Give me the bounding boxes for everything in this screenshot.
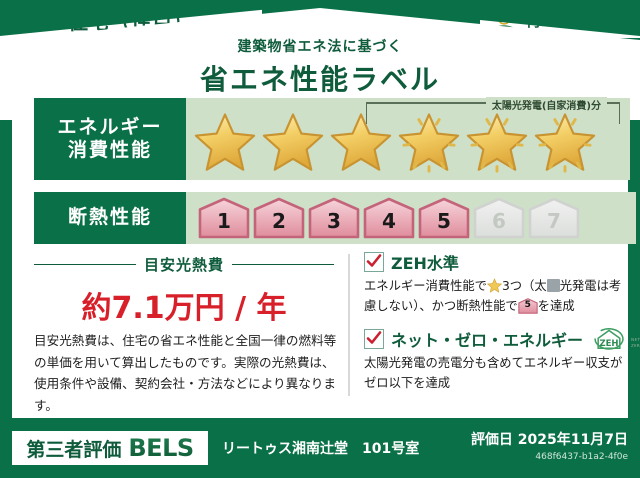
insulation-step-6: 6 — [473, 197, 525, 239]
bels-wordmark: BELS — [128, 434, 193, 462]
room-number: 101号室 — [362, 441, 419, 457]
insulation-step-number: 3 — [327, 209, 341, 239]
zeh-criteria-column: ZEH水準 エネルギー消費性能で3つ（太光発電は考慮しない）、かつ断熱性能で5を… — [364, 250, 632, 404]
insulation-grade-panel: 1234567 — [186, 192, 636, 244]
zeh-body-mid: 3つ（太 — [502, 279, 547, 293]
utility-cost-value: 約7.1万円 / 年 — [34, 283, 334, 327]
net-zero-energy-item: ネット・ゼロ・エネルギー ZEH ɴᴇᴛ ᴢᴇʀᴏ 太陽光発電の売電分も含めてエ… — [364, 327, 632, 394]
solar-bracket-caption: 太陽光発電(自家消費)分 — [486, 97, 607, 112]
insulation-step-1: 1 — [198, 197, 250, 239]
insulation-step-2: 2 — [253, 197, 305, 239]
star-icon — [192, 110, 258, 174]
zeh-standard-header: ZEH水準 — [364, 250, 632, 274]
evaluation-date: 評価日 2025年11月7日 — [471, 429, 628, 449]
utility-cost-block: 目安光熱費 約7.1万円 / 年 — [34, 254, 334, 327]
insulation-step-number: 6 — [492, 209, 506, 239]
page-title: 省エネ性能ラベル — [0, 58, 640, 98]
bels-third-party-label: 第三者評価 — [26, 435, 121, 462]
utility-cost-heading: 目安光熱費 — [34, 254, 334, 275]
insulation-step-5: 5 — [418, 197, 470, 239]
title-subtitle: 建築物省エネ法に基づく — [0, 36, 640, 56]
zeh-logo-icon: ZEH — [592, 327, 626, 351]
net-zero-energy-header: ネット・ゼロ・エネルギー ZEH ɴᴇᴛ ᴢᴇʀᴏ — [364, 327, 632, 351]
insulation-step-number: 4 — [382, 209, 396, 239]
insulation-step-number: 1 — [217, 209, 231, 239]
zeh-standard-title: ZEH水準 — [391, 250, 459, 274]
insulation-step-number: 2 — [272, 209, 286, 239]
inline-star-icon — [487, 278, 502, 293]
evaluation-info: 評価日 2025年11月7日 468f6437-b1a2-4f0e — [471, 429, 628, 462]
column-divider — [348, 254, 350, 396]
zeh-logo-subtext: ɴᴇᴛ ᴢᴇʀᴏ — [631, 337, 640, 349]
zeh-standard-checkbox — [364, 252, 384, 272]
property-name: リートゥス湘南辻堂 — [222, 441, 348, 457]
net-zero-energy-checkbox — [364, 329, 384, 349]
heading-rule-right — [232, 264, 334, 266]
zeh-standard-body: エネルギー消費性能で3つ（太光発電は考慮しない）、かつ断熱性能で5を達成 — [364, 277, 632, 317]
star-icon — [260, 110, 326, 174]
property-info: リートゥス湘南辻堂101号室 — [222, 438, 419, 458]
energy-label-line2: 消費性能 — [68, 139, 152, 162]
energy-performance-label: 建築物省エネ法に基づく 省エネ性能ラベル 住宅（住戸） 再エネ設備あり エネルギ… — [0, 0, 640, 478]
utility-cost-note: 目安光熱費は、住宅の省エネ性能と全国一律の燃料等の単価を用いて算出したものです。… — [34, 330, 340, 417]
zeh-body-pre: エネルギー消費性能で — [364, 279, 487, 293]
zeh-body-post: を達成 — [538, 299, 575, 313]
zeh-standard-item: ZEH水準 エネルギー消費性能で3つ（太光発電は考慮しない）、かつ断熱性能で5を… — [364, 250, 632, 317]
check-icon — [366, 330, 382, 347]
energy-performance-label-box: エネルギー 消費性能 — [34, 98, 186, 180]
inline-insulation-badge: 5 — [518, 298, 538, 314]
insulation-step-3: 3 — [308, 197, 360, 239]
evaluation-id: 468f6437-b1a2-4f0e — [471, 452, 628, 462]
svg-text:ZEH: ZEH — [599, 339, 618, 349]
insulation-performance-row: 断熱性能 1234567 — [34, 192, 636, 244]
label-body-card: エネルギー 消費性能 太陽光発電(自家消費)分 断熱性能 1234567 目安光… — [12, 88, 628, 418]
solar-bracket: 太陽光発電(自家消費)分 — [366, 102, 620, 124]
insulation-step-number: 7 — [547, 209, 561, 239]
insulation-performance-label-box: 断熱性能 — [34, 192, 186, 244]
label-title-block: 建築物省エネ法に基づく 省エネ性能ラベル — [0, 36, 640, 98]
heading-rule-left — [34, 264, 136, 266]
energy-performance-row: エネルギー 消費性能 太陽光発電(自家消費)分 — [34, 98, 630, 180]
energy-label-line1: エネルギー — [57, 116, 162, 139]
net-zero-energy-title: ネット・ゼロ・エネルギー — [391, 327, 583, 351]
insulation-label-line1: 断熱性能 — [68, 206, 152, 229]
redacted-character — [547, 279, 560, 292]
label-footer: 第三者評価 BELS リートゥス湘南辻堂101号室 評価日 2025年11月7日… — [0, 420, 640, 478]
insulation-step-7: 7 — [528, 197, 580, 239]
check-icon — [366, 253, 382, 270]
inline-badge-number: 5 — [518, 298, 538, 314]
net-zero-energy-body: 太陽光発電の売電分も含めてエネルギー収支がゼロ以下を達成 — [364, 354, 632, 394]
insulation-step-number: 5 — [437, 209, 451, 239]
energy-stars-panel: 太陽光発電(自家消費)分 — [186, 98, 630, 180]
insulation-step-4: 4 — [363, 197, 415, 239]
utility-cost-heading-label: 目安光熱費 — [144, 254, 224, 275]
bels-logo-box: 第三者評価 BELS — [12, 431, 208, 465]
